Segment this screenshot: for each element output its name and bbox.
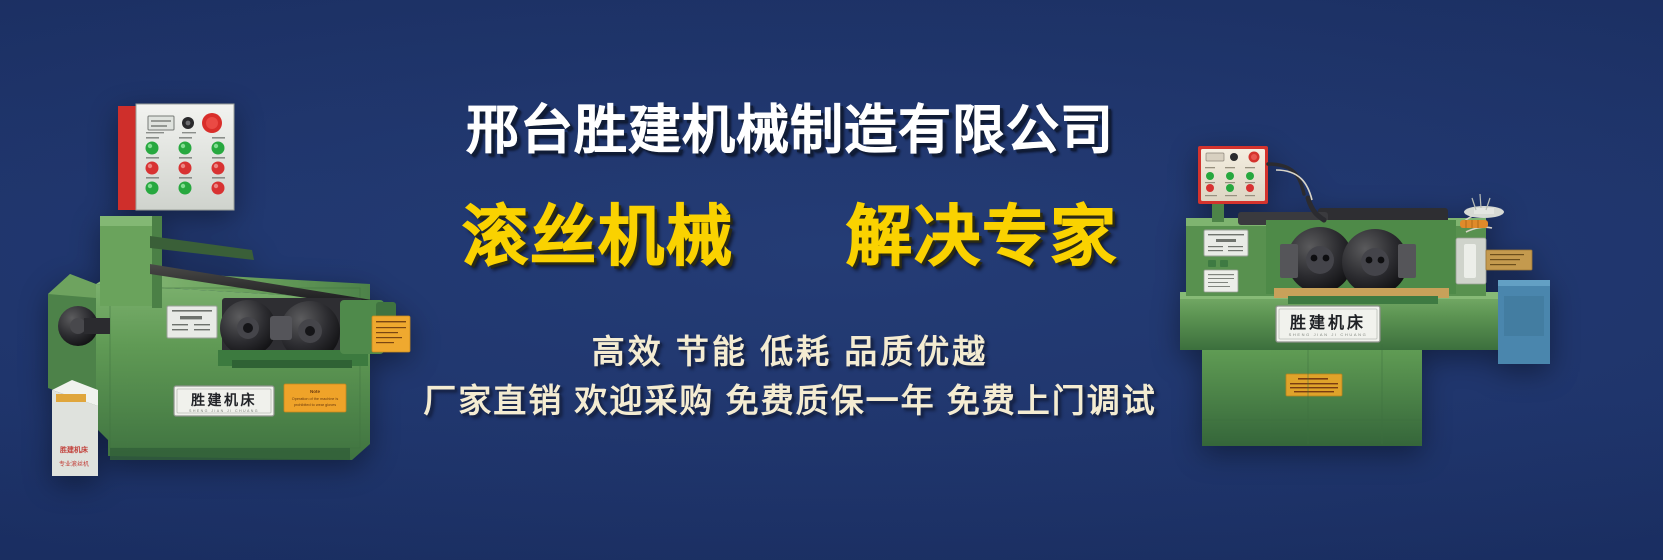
side-cabinet: 胜建机床 专业滚丝机 <box>52 380 98 476</box>
svg-text:prohibited to wear gloves: prohibited to wear gloves <box>294 403 336 407</box>
svg-text:SHENG JIAN JI CHUANG: SHENG JIAN JI CHUANG <box>1289 332 1368 337</box>
hydraulic-hoses <box>1268 164 1324 220</box>
svg-text:Note: Note <box>310 389 320 394</box>
machine-pillar <box>100 216 162 308</box>
banner-text-block: 邢台胜建机械制造有限公司 滚丝机械 解决专家 高效 节能 低耗 品质优越 厂家直… <box>390 0 1190 560</box>
control-panel <box>118 104 234 210</box>
machine-photo-right: 胜建机床 SHENG JIAN JI CHUANG <box>1168 120 1568 446</box>
svg-text:专业滚丝机: 专业滚丝机 <box>59 460 89 468</box>
svg-text:SHENG JIAN JI CHUANG: SHENG JIAN JI CHUANG <box>189 409 259 413</box>
warning-plate <box>1286 374 1342 396</box>
nameplate: 胜建机床 SHENG JIAN JI CHUANG <box>1276 306 1380 342</box>
svg-text:胜建机床: 胜建机床 <box>1290 313 1366 332</box>
spec-plate <box>167 306 217 338</box>
warning-label: Note Operation of the machine is prohibi… <box>284 384 346 412</box>
tagline-services: 厂家直销 欢迎采购 免费质保一年 免费上门调试 <box>390 374 1190 422</box>
company-name: 邢台胜建机械制造有限公司 <box>390 104 1190 157</box>
machine-rolling-heads <box>1266 220 1456 304</box>
promotional-banner: 胜建机床 SHENG JIAN JI CHUANG Note Operation… <box>0 0 1663 560</box>
machine-photo-left: 胜建机床 SHENG JIAN JI CHUANG Note Operation… <box>22 88 424 476</box>
headline-left: 滚丝机械 <box>462 203 734 269</box>
headline-right: 解决专家 <box>846 203 1118 269</box>
control-panel <box>1198 146 1268 222</box>
right-tooling <box>1456 194 1532 284</box>
headline-row: 滚丝机械 解决专家 <box>390 203 1190 269</box>
nameplate: 胜建机床 SHENG JIAN JI CHUANG <box>174 386 274 416</box>
svg-text:胜建机床: 胜建机床 <box>191 392 257 409</box>
machine-right-extension <box>1498 280 1550 364</box>
svg-text:胜建机床: 胜建机床 <box>59 445 89 454</box>
tagline-features: 高效 节能 低耗 品质优越 <box>390 325 1190 373</box>
svg-text:Operation of the machine is: Operation of the machine is <box>292 397 339 401</box>
